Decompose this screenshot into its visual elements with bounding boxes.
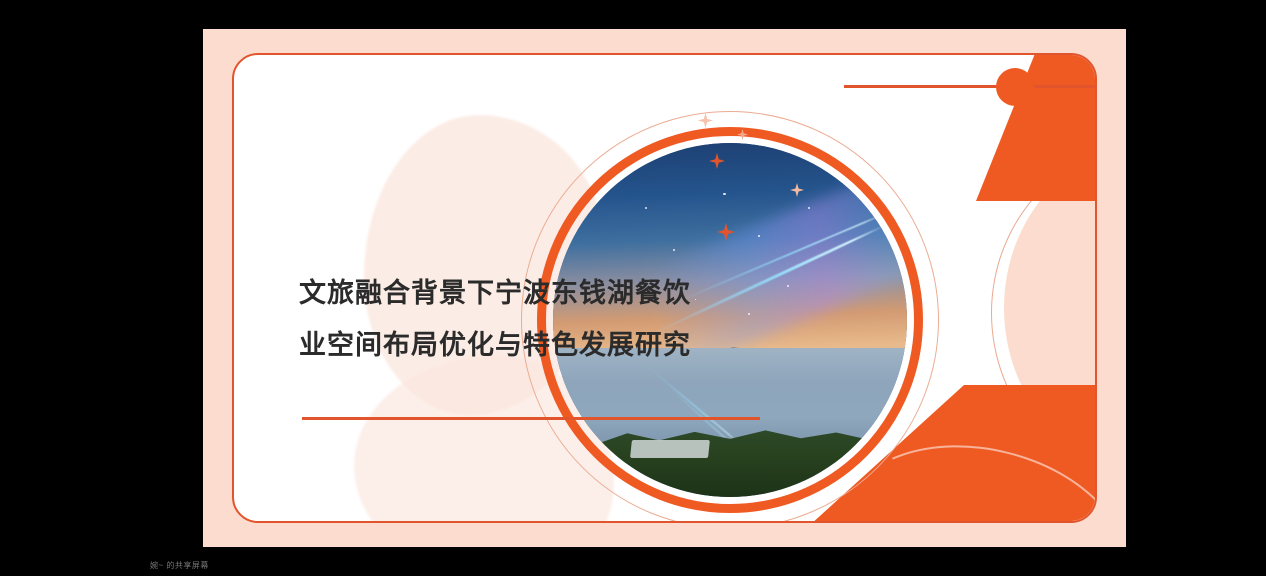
screen-share-caption: 婉~ 的共享屏幕 [150, 560, 209, 571]
photo-lake-reflection-2 [665, 384, 745, 456]
photo-star [787, 285, 789, 287]
presentation-slide[interactable]: 文旅融合背景下宁波东钱湖餐饮 业空间布局优化与特色发展研究 [203, 29, 1126, 547]
sparkle-icon [698, 113, 713, 128]
photo-star [723, 193, 726, 196]
photo-star [673, 249, 675, 251]
decorative-blob-lower [354, 355, 614, 523]
orange-wedge-top-right [976, 53, 1097, 201]
photo-lake-reflection-1 [645, 364, 744, 448]
photo-village-buildings [630, 440, 710, 458]
slide-inner-panel: 文旅融合背景下宁波东钱湖餐饮 业空间布局优化与特色发展研究 [232, 53, 1097, 523]
sparkle-icon [709, 153, 725, 169]
photo-star [808, 207, 810, 209]
peach-crescent-outline [991, 143, 1097, 483]
sparkle-icon [790, 183, 804, 197]
photo-star [758, 235, 760, 237]
photo-star [645, 207, 647, 209]
slide-title: 文旅融合背景下宁波东钱湖餐饮 业空间布局优化与特色发展研究 [299, 267, 769, 371]
peach-crescent-shape [1004, 143, 1097, 473]
orange-wedge-bottom [634, 385, 1097, 523]
screen-share-viewport: 文旅融合背景下宁波东钱湖餐饮 业空间布局优化与特色发展研究 婉~ 的共享屏幕 [0, 0, 1266, 576]
wedge-arc-line [821, 417, 1097, 523]
sparkle-icon [717, 223, 735, 241]
peach-crescent-shape-lower [1014, 355, 1097, 523]
title-divider [302, 417, 760, 420]
orange-horizontal-bar [844, 85, 1097, 88]
orange-dot [996, 68, 1034, 106]
sparkle-icon [737, 129, 748, 140]
